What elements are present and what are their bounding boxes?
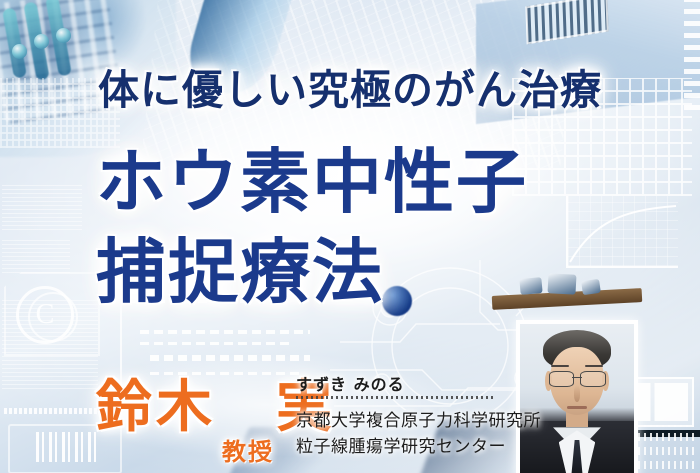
speaker-affiliation-line-2: 粒子線腫瘍学研究センター — [296, 432, 506, 457]
dashed-rule-decoration — [140, 330, 310, 334]
eyeglasses-icon — [549, 371, 606, 385]
droplet-decoration — [34, 34, 49, 49]
desk-instrument-decoration — [581, 279, 601, 295]
test-tube-decoration — [45, 0, 72, 77]
micro-text-block-decoration — [2, 240, 70, 274]
furigana-divider — [296, 396, 496, 399]
portrait-photo — [520, 324, 634, 473]
poster-subtitle: 体に優しい究極のがん治療 — [98, 56, 602, 116]
speaker-rank: 教授 — [222, 432, 274, 467]
tick-bars-decoration — [632, 425, 696, 469]
portrait-photo-frame — [516, 320, 638, 473]
ceiling-vent-decoration — [525, 0, 608, 44]
nose-decoration — [574, 385, 581, 402]
micro-text-block-decoration — [2, 185, 82, 231]
dashed-rule-decoration — [140, 342, 290, 345]
desk-instrument-decoration — [547, 273, 576, 294]
hex-frame-decoration — [4, 272, 100, 356]
poster-canvas: 体に優しい究極のがん治療 ホウ素中性子 捕捉療法 鈴木 実 教授 すずき みのる… — [0, 0, 700, 473]
mouth-decoration — [567, 406, 588, 409]
poster-title-line-1: ホウ素中性子 — [96, 126, 528, 227]
speaker-furigana: すずき みのる — [296, 371, 405, 395]
mini-line-chart-decoration — [566, 196, 678, 268]
desk-decoration — [492, 288, 643, 310]
right-marker-strip-decoration — [684, 0, 700, 110]
copyright-circle-icon — [16, 286, 74, 344]
barcode-icon — [36, 432, 98, 462]
lens-decoration — [580, 371, 606, 387]
micro-text-block-decoration — [2, 300, 98, 390]
dashed-rule-decoration — [150, 355, 310, 361]
poster-title-line-2: 捕捉療法 — [96, 216, 384, 317]
reticle-icon — [28, 292, 78, 342]
mini-chart-curve-icon — [568, 196, 678, 266]
desk-instrument-decoration — [519, 277, 542, 295]
speaker-affiliation-line-1: 京都大学複合原子力科学研究所 — [296, 406, 541, 431]
test-tube-decoration — [23, 1, 49, 80]
bridge-decoration — [572, 377, 581, 379]
test-tube-decoration — [2, 7, 27, 78]
blue-orb-decoration — [382, 286, 412, 316]
droplet-decoration — [12, 44, 27, 59]
lens-decoration — [549, 371, 575, 387]
droplet-decoration — [56, 28, 71, 43]
